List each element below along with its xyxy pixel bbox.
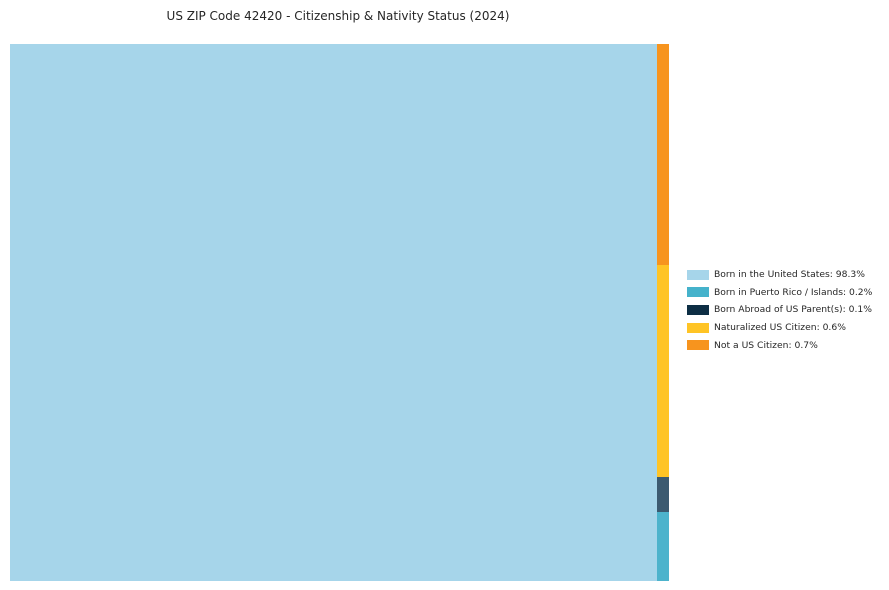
legend-swatch-icon <box>687 270 709 280</box>
treemap-plot-area <box>10 44 669 581</box>
legend-item-label: Born Abroad of US Parent(s): 0.1% <box>714 305 872 314</box>
legend-item[interactable]: Not a US Citizen: 0.7% <box>687 336 882 354</box>
chart-legend: Born in the United States: 98.3%Born in … <box>687 266 882 354</box>
legend-swatch-icon <box>687 287 709 297</box>
legend-item[interactable]: Born in Puerto Rico / Islands: 0.2% <box>687 284 882 302</box>
legend-item-label: Born in Puerto Rico / Islands: 0.2% <box>714 288 872 297</box>
legend-swatch-icon <box>687 340 709 350</box>
legend-swatch-icon <box>687 305 709 315</box>
legend-item[interactable]: Born Abroad of US Parent(s): 0.1% <box>687 301 882 319</box>
treemap-tile[interactable] <box>657 44 669 265</box>
treemap-tile[interactable] <box>657 477 669 512</box>
legend-item-label: Born in the United States: 98.3% <box>714 270 865 279</box>
legend-item[interactable]: Naturalized US Citizen: 0.6% <box>687 319 882 337</box>
treemap-tile[interactable] <box>657 512 669 581</box>
treemap-tile[interactable] <box>657 265 669 477</box>
legend-item-label: Naturalized US Citizen: 0.6% <box>714 323 846 332</box>
legend-item-label: Not a US Citizen: 0.7% <box>714 341 818 350</box>
page-title: US ZIP Code 42420 - Citizenship & Nativi… <box>0 9 676 23</box>
legend-swatch-icon <box>687 323 709 333</box>
treemap-tile[interactable] <box>10 44 657 581</box>
legend-item[interactable]: Born in the United States: 98.3% <box>687 266 882 284</box>
